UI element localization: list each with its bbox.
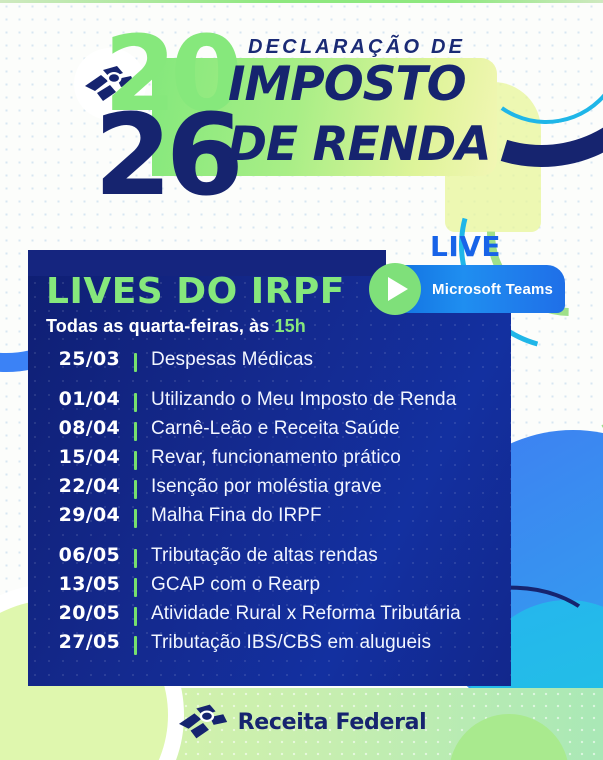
title-line-2: DE RENDA [228,122,491,167]
schedule-topic: Carnê-Leão e Receita Saúde [151,418,400,440]
schedule-date: 27/05 [28,631,120,653]
schedule-topic: Malha Fina do IRPF [151,505,322,527]
schedule-row: 25/03Despesas Médicas [28,348,498,377]
schedule-date: 01/04 [28,388,120,410]
schedule-separator [134,636,137,655]
schedule-row: 15/04Revar, funcionamento prático [28,446,498,475]
schedule-row: 06/05Tributação de altas rendas [28,544,498,573]
schedule-separator [134,353,137,372]
schedule-row: 08/04Carnê-Leão e Receita Saúde [28,417,498,446]
live-label: LIVE [430,230,501,263]
schedule-topic: Utilizando o Meu Imposto de Renda [151,389,456,411]
schedule-separator [134,607,137,626]
schedule-separator [134,578,137,597]
poster-root: 20 26 DECLARAÇÃO DE IMPOSTO DE RENDA LIV… [0,0,603,760]
schedule-date: 22/04 [28,475,120,497]
footer-logo: Receita Federal [177,702,427,742]
schedule-topic: Tributação de altas rendas [151,545,378,567]
schedule-list: 25/03Despesas Médicas01/04Utilizando o M… [28,348,498,660]
top-accent-line [0,0,603,3]
schedule-separator [134,549,137,568]
schedule-date: 20/05 [28,602,120,624]
section-subtitle: Todas as quarta-feiras, às 15h [46,316,306,337]
schedule-row: 22/04Isenção por moléstia grave [28,475,498,504]
schedule-topic: GCAP com o Rearp [151,574,320,596]
schedule-date: 06/05 [28,544,120,566]
schedule-topic: Isenção por moléstia grave [151,476,382,498]
schedule-date: 29/04 [28,504,120,526]
title-line-1: IMPOSTO [228,62,466,107]
microsoft-teams-label: Microsoft Teams [432,281,553,298]
schedule-topic: Atividade Rural x Reforma Tributária [151,603,461,625]
schedule-separator [134,509,137,528]
play-icon [388,277,408,301]
section-title: LIVES DO IRPF [46,274,345,310]
schedule-row: 01/04Utilizando o Meu Imposto de Renda [28,388,498,417]
schedule-separator [134,422,137,441]
schedule-separator [134,480,137,499]
schedule-date: 13/05 [28,573,120,595]
schedule-row: 20/05Atividade Rural x Reforma Tributári… [28,602,498,631]
schedule-row: 29/04Malha Fina do IRPF [28,504,498,533]
subtitle-prefix: Todas as quarta-feiras, às [46,316,274,336]
schedule-row: 13/05GCAP com o Rearp [28,573,498,602]
year-bottom: 26 [94,100,238,212]
schedule-separator [134,451,137,470]
schedule-topic: Tributação IBS/CBS em alugueis [151,632,431,654]
schedule-row: 27/05Tributação IBS/CBS em alugueis [28,631,498,660]
eyebrow-text: DECLARAÇÃO DE [248,36,465,59]
schedule-date: 25/03 [28,348,120,370]
subtitle-time: 15h [274,316,305,336]
schedule-separator [134,393,137,412]
schedule-topic: Despesas Médicas [151,349,313,371]
receita-federal-logo-icon [177,702,229,742]
schedule-date: 15/04 [28,446,120,468]
footer-brand-text: Receita Federal [238,710,427,735]
schedule-date: 08/04 [28,417,120,439]
schedule-topic: Revar, funcionamento prático [151,447,401,469]
